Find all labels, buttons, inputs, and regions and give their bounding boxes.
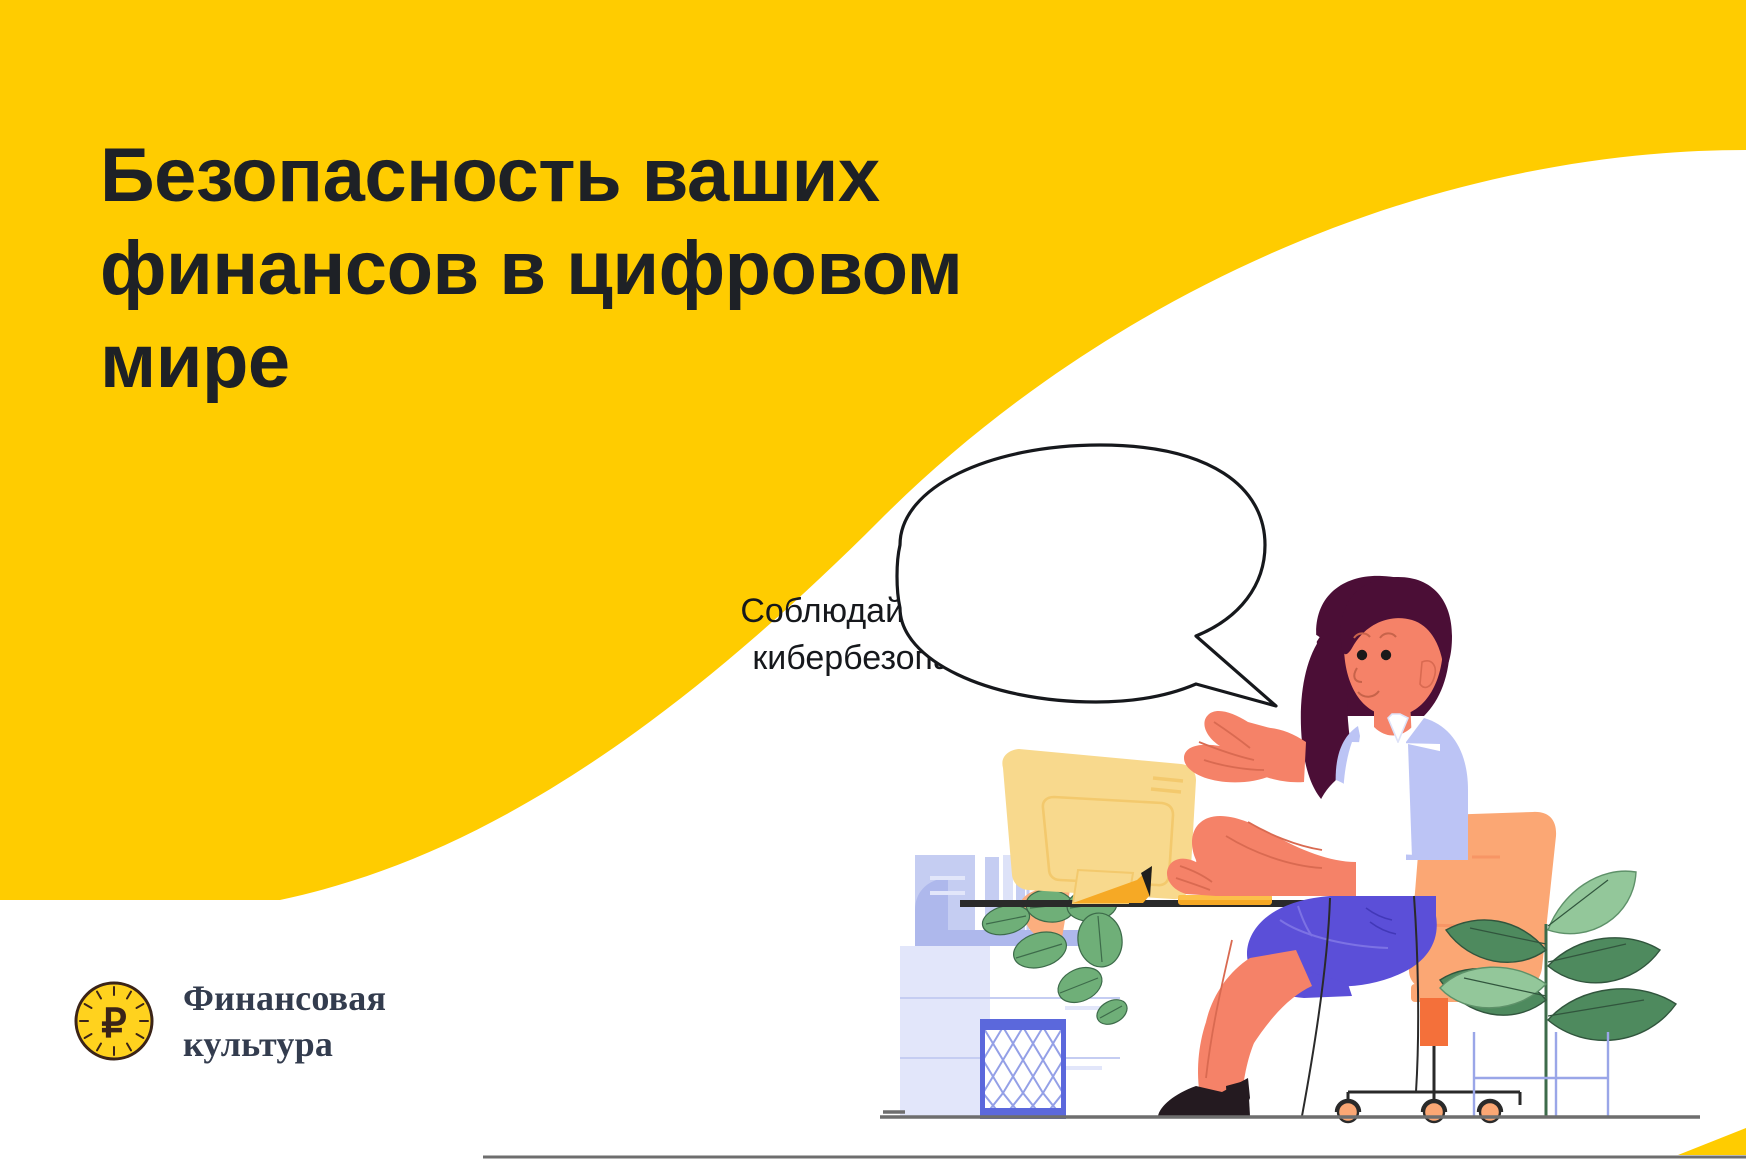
svg-text:₽: ₽ [101,1001,126,1046]
slide-title: Безопасность ваших финансов в цифровом м… [100,129,1160,408]
brand-line-2: культура [183,1021,386,1067]
brand-line-1: Финансовая [183,975,386,1021]
title-line-2: финансов в цифровом [100,222,1160,315]
brand-logo-text: Финансовая культура [183,975,386,1067]
ruble-coin-icon: ₽ [68,975,160,1067]
title-line-1: Безопасность ваших [100,129,1160,222]
title-line-3: мире [100,315,1160,408]
brand-logo[interactable]: ₽ Финансовая культура [68,975,386,1067]
slide-root: Безопасность ваших финансов в цифровом м… [0,0,1746,1163]
